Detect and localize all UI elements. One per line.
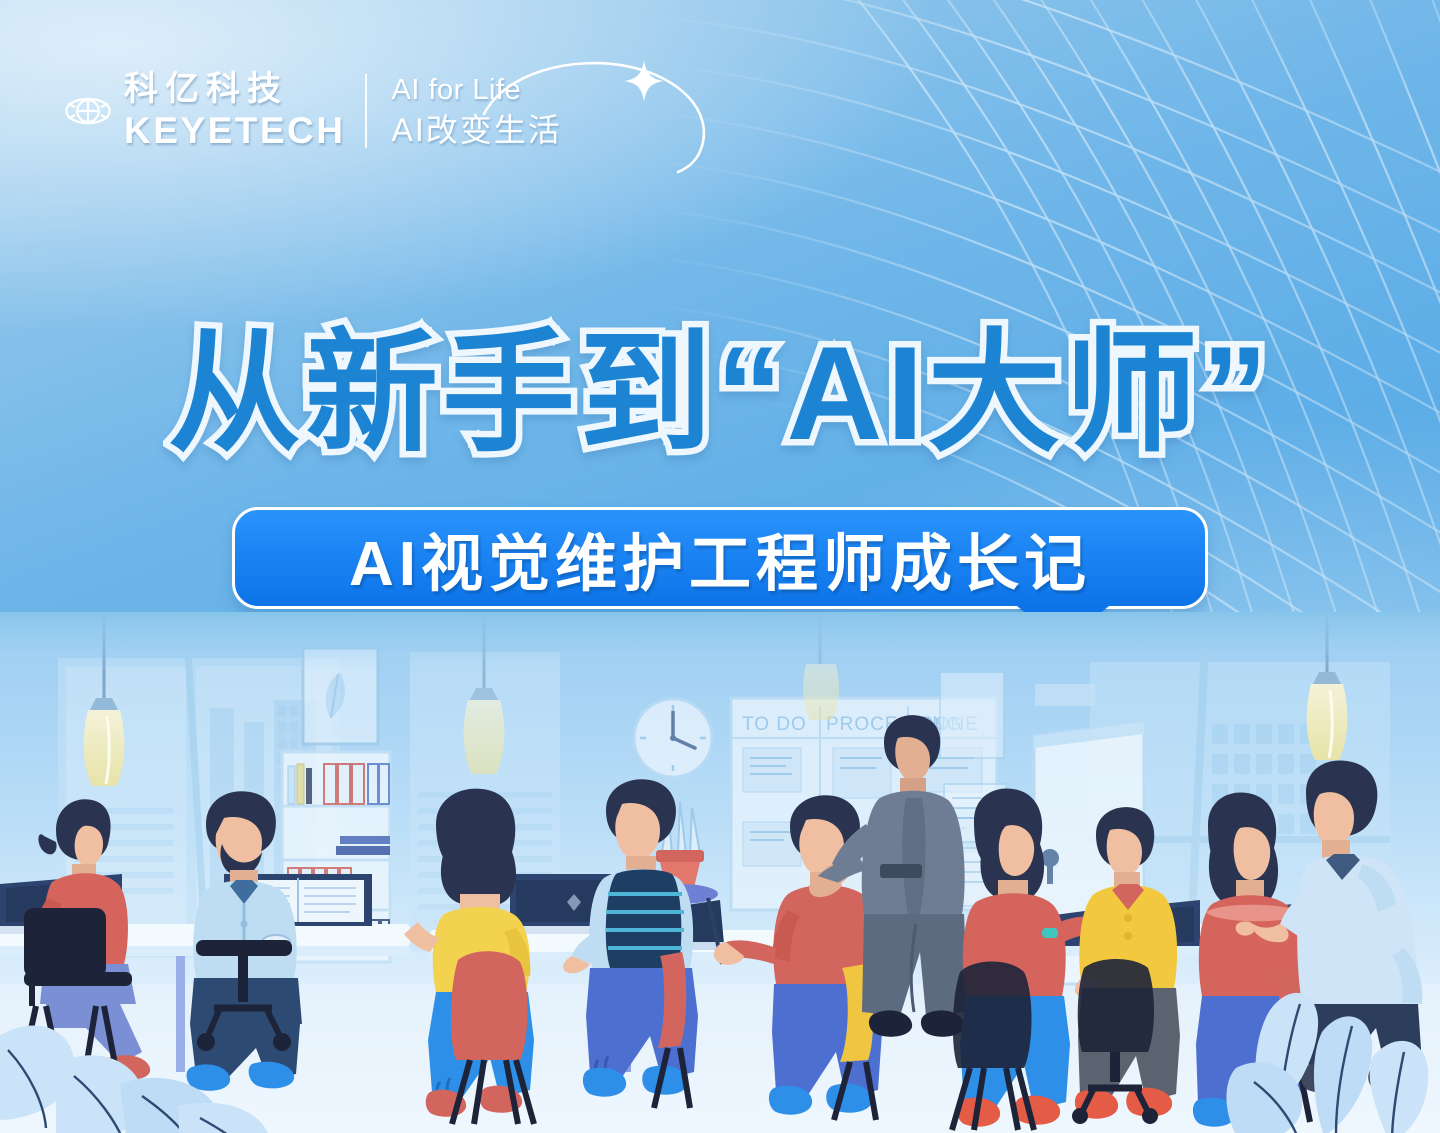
brand-logo: 科亿科技 KEYETECH AI for Life AI改变生活 <box>62 72 562 149</box>
office-illustration: TO DO PROCESSING DONE <box>0 612 1440 1133</box>
subtitle-band: AI视觉维护工程师成长记 <box>232 507 1208 609</box>
kanban-col-todo: TO DO <box>742 714 807 735</box>
wall-clock-icon <box>634 699 712 777</box>
logo-divider <box>365 74 367 148</box>
arc-swoosh-icon <box>476 54 726 179</box>
subtitle-banner: AI视觉维护工程师成长记 <box>232 507 1208 609</box>
logo-chinese-name: 科亿科技 <box>124 72 345 106</box>
poster-canvas: 科亿科技 KEYETECH AI for Life AI改变生活 从新手到“AI… <box>0 0 1440 1133</box>
eye-globe-icon <box>62 85 114 137</box>
office-scene: TO DO PROCESSING DONE <box>0 612 1440 1133</box>
subtitle-text: AI视觉维护工程师成长记 <box>349 513 1091 603</box>
logo-english-name: KEYETECH <box>124 112 345 149</box>
page-title: 从新手到“AI大师” <box>0 328 1440 461</box>
brand-slogan: AI for Life AI改变生活 <box>391 76 561 146</box>
